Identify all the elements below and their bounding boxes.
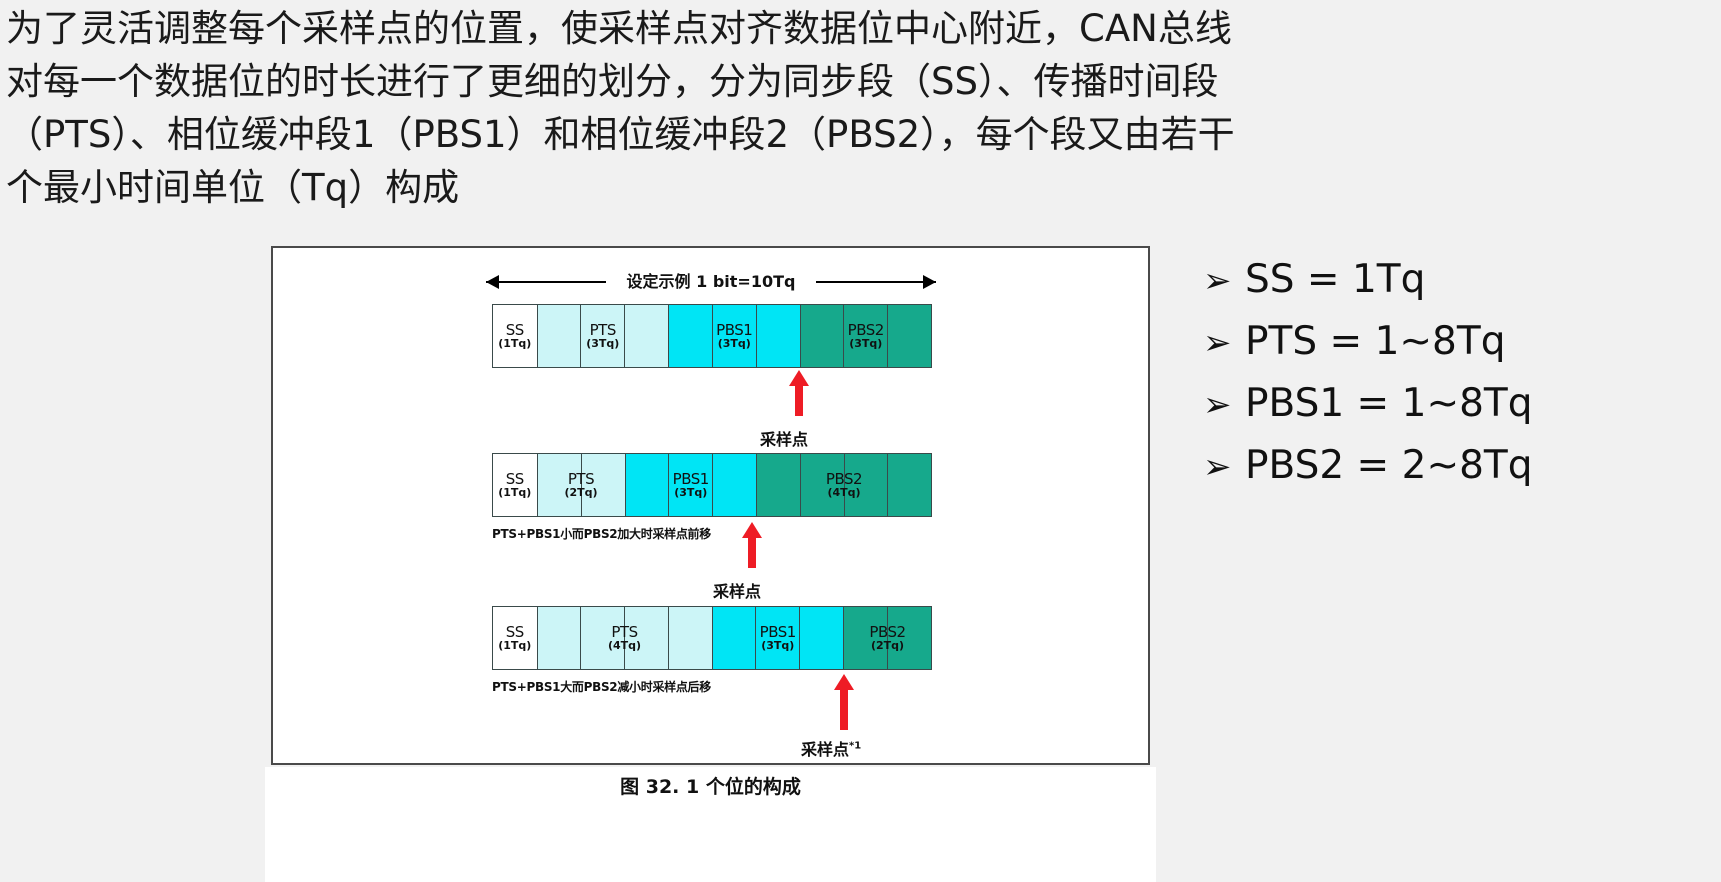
bit-timing-bar-2: SS(1Tq)PTS(2Tq)PBS1(3Tq)PBS2(4Tq) xyxy=(492,453,932,517)
figure-caption: 图 32. 1 个位的构成 xyxy=(271,772,1150,799)
segment-name: PTS xyxy=(611,624,637,640)
sample-point-arrow-2-icon xyxy=(742,522,762,568)
segment-duration: (3Tq) xyxy=(674,487,707,499)
spec-list: ➢ SS = 1Tq ➢ PTS = 1~8Tq ➢ PBS1 = 1~8Tq … xyxy=(1203,252,1703,500)
tq-cell xyxy=(888,305,931,367)
tq-cell xyxy=(713,454,756,516)
segment-pbs1-bar3: PBS1(3Tq) xyxy=(713,607,845,669)
segment-duration: (3Tq) xyxy=(718,338,751,350)
spec-item-ss-label: SS = 1Tq xyxy=(1245,252,1425,308)
arrow-bullet-icon: ➢ xyxy=(1203,377,1245,433)
segment-name: PBS1 xyxy=(716,322,752,338)
segment-duration: (1Tq) xyxy=(498,640,531,652)
sample-point-arrow-1-icon xyxy=(789,370,809,416)
segment-pbs2-bar3: PBS2(2Tq) xyxy=(844,607,931,669)
sample-point-label-2-text: 采样点 xyxy=(713,582,761,601)
arrow-bullet-icon: ➢ xyxy=(1203,439,1245,495)
intro-line-2: 对每一个数据位的时长进行了更细的划分，分为同步段（SS）、传播时间段 xyxy=(6,55,1712,108)
bit-timing-bar-3: SS(1Tq)PTS(4Tq)PBS1(3Tq)PBS2(2Tq) xyxy=(492,606,932,670)
segment-pbs2-bar2: PBS2(4Tq) xyxy=(757,454,931,516)
segment-pbs1-bar1: PBS1(3Tq) xyxy=(669,305,801,367)
spec-item-pts-label: PTS = 1~8Tq xyxy=(1245,314,1505,370)
segment-duration: (3Tq) xyxy=(761,640,794,652)
segment-pts-bar3: PTS(4Tq) xyxy=(538,607,713,669)
spec-item-pts: ➢ PTS = 1~8Tq xyxy=(1203,314,1703,370)
segment-ss-bar3: SS(1Tq) xyxy=(493,607,538,669)
segment-duration: (2Tq) xyxy=(564,487,597,499)
segment-name: SS xyxy=(506,471,524,487)
tq-cell xyxy=(800,607,843,669)
tq-cell xyxy=(713,607,757,669)
segment-name: PTS xyxy=(590,322,616,338)
tq-cell xyxy=(757,454,801,516)
sample-point-label-3: 采样点*1 xyxy=(801,736,861,760)
shift-note-1: PTS+PBS1小而PBS2加大时采样点前移 xyxy=(492,525,711,542)
span-line-right xyxy=(816,281,936,283)
arrow-stem xyxy=(795,384,803,416)
tq-cell xyxy=(625,305,668,367)
tq-cell xyxy=(888,454,931,516)
spec-item-pbs1: ➢ PBS1 = 1~8Tq xyxy=(1203,376,1703,432)
sample-point-label-3-text: 采样点 xyxy=(801,740,849,759)
sample-point-label-1: 采样点 xyxy=(760,426,808,450)
spec-item-pbs2-label: PBS2 = 2~8Tq xyxy=(1245,438,1533,494)
segment-name: SS xyxy=(506,624,524,640)
arrow-stem xyxy=(748,536,756,568)
segment-duration: (1Tq) xyxy=(498,338,531,350)
bit-span-label: 设定示例 1 bit=10Tq xyxy=(621,268,802,292)
segment-duration: (2Tq) xyxy=(871,640,904,652)
spec-item-ss: ➢ SS = 1Tq xyxy=(1203,252,1703,308)
segment-name: SS xyxy=(506,322,524,338)
span-line-left xyxy=(486,281,606,283)
segment-duration: (4Tq) xyxy=(608,640,641,652)
intro-line-3: （PTS）、相位缓冲段1（PBS1）和相位缓冲段2（PBS2），每个段又由若干 xyxy=(6,108,1712,161)
sample-point-arrow-3-icon xyxy=(834,674,854,730)
shift-note-2: PTS+PBS1大而PBS2减小时采样点后移 xyxy=(492,678,711,695)
arrow-bullet-icon: ➢ xyxy=(1203,253,1245,309)
segment-duration: (4Tq) xyxy=(827,487,860,499)
bit-span-measure: 设定示例 1 bit=10Tq xyxy=(486,268,936,294)
sample-point-label-2: 采样点 xyxy=(713,578,761,602)
segment-pbs2-bar1: PBS2(3Tq) xyxy=(801,305,932,367)
segment-name: PBS1 xyxy=(760,624,796,640)
tq-cell xyxy=(757,305,800,367)
segment-pts-bar2: PTS(2Tq) xyxy=(538,454,626,516)
segment-duration: (1Tq) xyxy=(498,487,531,499)
segment-duration: (3Tq) xyxy=(586,338,619,350)
segment-name: PBS2 xyxy=(826,471,862,487)
segment-ss-bar1: SS(1Tq) xyxy=(493,305,538,367)
segment-pts-bar1: PTS(3Tq) xyxy=(538,305,670,367)
bit-timing-bar-1: SS(1Tq)PTS(3Tq)PBS1(3Tq)PBS2(3Tq) xyxy=(492,304,932,368)
arrow-stem xyxy=(840,688,848,730)
segment-name: PBS1 xyxy=(673,471,709,487)
tq-cell xyxy=(538,305,582,367)
intro-line-1: 为了灵活调整每个采样点的位置，使采样点对齐数据位中心附近，CAN总线 xyxy=(6,2,1712,55)
tq-cell xyxy=(669,607,712,669)
intro-line-4: 个最小时间单位（Tq）构成 xyxy=(6,161,1712,214)
tq-cell xyxy=(538,607,582,669)
segment-pbs1-bar2: PBS1(3Tq) xyxy=(626,454,758,516)
segment-duration: (3Tq) xyxy=(849,338,882,350)
segment-name: PTS xyxy=(568,471,594,487)
arrow-right-icon xyxy=(923,275,936,289)
segment-ss-bar2: SS(1Tq) xyxy=(493,454,538,516)
intro-paragraph: 为了灵活调整每个采样点的位置，使采样点对齐数据位中心附近，CAN总线 对每一个数… xyxy=(6,2,1712,214)
tq-cell xyxy=(626,454,670,516)
spec-item-pbs2: ➢ PBS2 = 2~8Tq xyxy=(1203,438,1703,494)
tq-cell xyxy=(801,305,845,367)
sample-point-label-1-text: 采样点 xyxy=(760,430,808,449)
figure-panel: 设定示例 1 bit=10Tq SS(1Tq)PTS(3Tq)PBS1(3Tq)… xyxy=(271,246,1150,765)
spec-item-pbs1-label: PBS1 = 1~8Tq xyxy=(1245,376,1533,432)
sample-point-label-3-sup: *1 xyxy=(849,741,861,752)
tq-cell xyxy=(669,305,713,367)
segment-name: PBS2 xyxy=(848,322,884,338)
arrow-bullet-icon: ➢ xyxy=(1203,315,1245,371)
segment-name: PBS2 xyxy=(869,624,905,640)
